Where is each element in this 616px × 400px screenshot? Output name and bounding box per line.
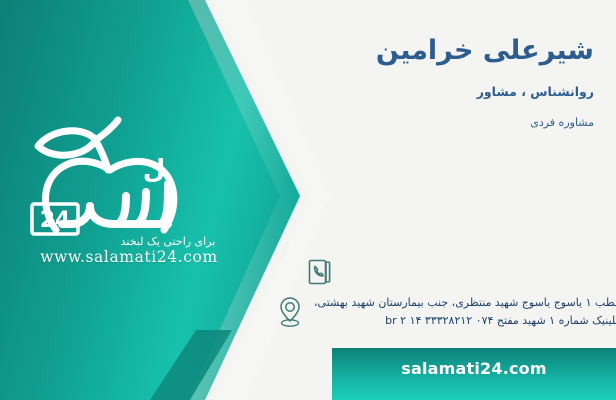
logo-mark: ل 24 برای راحتی یک لبخند	[18, 112, 258, 267]
contact-phone-row[interactable]	[300, 252, 600, 292]
contact-address-row[interactable]: مطب ۱ یاسوج یاسوج شهید منتظری، جنب بیمار…	[270, 292, 600, 332]
phone-book-icon	[300, 252, 340, 292]
business-card: ل 24 برای راحتی یک لبخند www.salamati24.…	[0, 0, 616, 400]
profile-service: مشاوره فردی	[264, 116, 594, 129]
address-text: مطب ۱ یاسوج یاسوج شهید منتظری، جنب بیمار…	[310, 294, 616, 330]
profile-block: شیرعلی خرامین روانشناس ، مشاور مشاوره فر…	[264, 34, 594, 129]
profile-profession: روانشناس ، مشاور	[264, 84, 594, 99]
logo-website-url: www.salamati24.com	[0, 248, 258, 266]
footer-website[interactable]: salamati24.com	[401, 359, 547, 378]
address-line-1: مطب ۱ یاسوج یاسوج شهید منتظری، جنب بیمار…	[314, 294, 616, 312]
map-pin-icon	[270, 292, 310, 332]
address-line-2: کلینیک شماره ۱ شهید مفتح ۰۷۴ ۳۳۳۲۸۲۱۲ ۱۴…	[314, 312, 616, 330]
svg-text:24: 24	[40, 208, 71, 233]
logo-tagline: برای راحتی یک لبخند	[121, 235, 216, 248]
footer-bar: salamati24.com	[332, 348, 616, 400]
profile-name: شیرعلی خرامین	[264, 34, 594, 68]
svg-text:ل: ل	[143, 155, 166, 185]
